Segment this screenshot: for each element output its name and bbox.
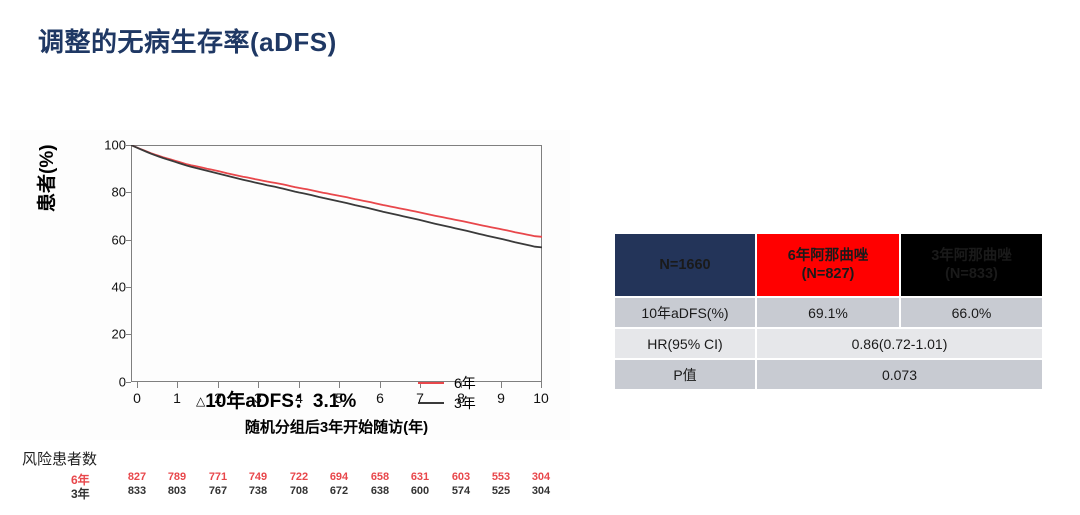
x-tick-10: 10 [526,390,556,406]
kaplan-meier-curves [131,145,542,382]
cell-pvalue: 0.073 [757,360,1042,389]
risk-value: 771 [201,471,235,483]
cell-adfs-6-year: 69.1% [757,298,899,327]
header-arm-6-year: 6年阿那曲唑 (N=827) [757,234,899,296]
y-tickmark-100 [126,145,131,146]
risk-value: 638 [363,485,397,497]
risk-value: 767 [201,485,235,497]
risk-value: 525 [484,485,518,497]
risk-value: 600 [403,485,437,497]
risk-value: 708 [282,485,316,497]
table-row: 10年aDFS(%) 69.1% 66.0% [615,298,1042,327]
y-tickmark-60 [126,240,131,241]
risk-value: 631 [403,471,437,483]
y-axis-title: 患者(%) [32,144,59,212]
x-tickmark-1 [177,382,178,388]
legend-label-6-year: 6年 [454,373,476,393]
header-total: N=1660 [615,234,755,296]
risk-row-label-3-year: 3年 [71,485,111,502]
risk-row-3-year: 3年 833 803 767 738 708 672 638 600 574 5… [0,485,580,499]
y-tick-20: 20 [92,327,126,342]
x-tickmark-0 [137,382,138,388]
x-tick-6: 6 [365,390,395,406]
risk-value: 672 [322,485,356,497]
x-tick-1: 1 [162,390,192,406]
cell-hr-value: 0.86(0.72-1.01) [757,329,1042,358]
chart-annotation: △10年aDFS：3.1% [196,386,356,413]
header-arm-3-year-label: 3年阿那曲唑 [901,247,1042,265]
legend-swatch-6-year [418,382,444,384]
risk-value: 749 [241,471,275,483]
chart-annotation-text: 10年aDFS：3.1% [205,391,356,412]
legend-swatch-3-year [418,402,444,404]
y-tickmark-0 [126,382,131,383]
risk-value: 789 [160,471,194,483]
y-tick-60: 60 [92,233,126,248]
chart-legend: 6年 3年 [418,373,476,413]
risk-row-6-year: 6年 827 789 771 749 722 694 658 631 603 5… [0,471,580,485]
header-arm-3-year-sub: (N=833) [901,265,1042,283]
table-header-row: N=1660 6年阿那曲唑 (N=827) 3年阿那曲唑 (N=833) [615,234,1042,296]
risk-value: 694 [322,471,356,483]
numbers-at-risk-title: 风险患者数 [22,448,97,469]
table-row: P值 0.073 [615,360,1042,389]
table-row: HR(95% CI) 0.86(0.72-1.01) [615,329,1042,358]
y-tickmark-20 [126,334,131,335]
cell-adfs-3-year: 66.0% [901,298,1042,327]
row-label-pvalue: P值 [615,360,755,389]
legend-item-6-year: 6年 [418,373,476,393]
legend-label-3-year: 3年 [454,393,476,413]
row-label-hr: HR(95% CI) [615,329,755,358]
x-tick-0: 0 [122,390,152,406]
y-tick-0: 0 [92,375,126,390]
y-tickmark-80 [126,192,131,193]
risk-value: 304 [524,471,558,483]
legend-item-3-year: 3年 [418,393,476,413]
risk-value: 722 [282,471,316,483]
risk-value: 603 [444,471,478,483]
y-tick-40: 40 [92,280,126,295]
header-arm-6-year-sub: (N=827) [757,265,899,283]
x-tickmark-9 [501,382,502,388]
page-title: 调整的无病生存率(aDFS) [38,22,337,59]
row-label-adfs: 10年aDFS(%) [615,298,755,327]
numbers-at-risk-block: 风险患者数 6年 827 789 771 749 722 694 658 631… [0,443,580,515]
x-axis-title: 随机分组后3年开始随访(年) [131,416,542,437]
x-tick-9: 9 [486,390,516,406]
y-tick-80: 80 [92,185,126,200]
risk-value: 827 [120,471,154,483]
results-table: N=1660 6年阿那曲唑 (N=827) 3年阿那曲唑 (N=833) 10年… [613,232,1044,391]
header-arm-3-year: 3年阿那曲唑 (N=833) [901,234,1042,296]
risk-value: 304 [524,485,558,497]
risk-value: 574 [444,485,478,497]
curve-6-year [131,145,542,237]
y-axis: 100 80 60 40 20 0 [86,128,126,388]
delta-triangle-icon: △ [196,394,205,408]
header-total-label: N=1660 [615,256,755,274]
y-tickmark-40 [126,287,131,288]
header-arm-6-year-label: 6年阿那曲唑 [757,247,899,265]
x-tickmark-6 [380,382,381,388]
risk-value: 553 [484,471,518,483]
risk-value: 803 [160,485,194,497]
risk-value: 738 [241,485,275,497]
risk-value: 658 [363,471,397,483]
x-tickmark-10 [541,382,542,388]
y-tick-100: 100 [92,138,126,153]
risk-value: 833 [120,485,154,497]
